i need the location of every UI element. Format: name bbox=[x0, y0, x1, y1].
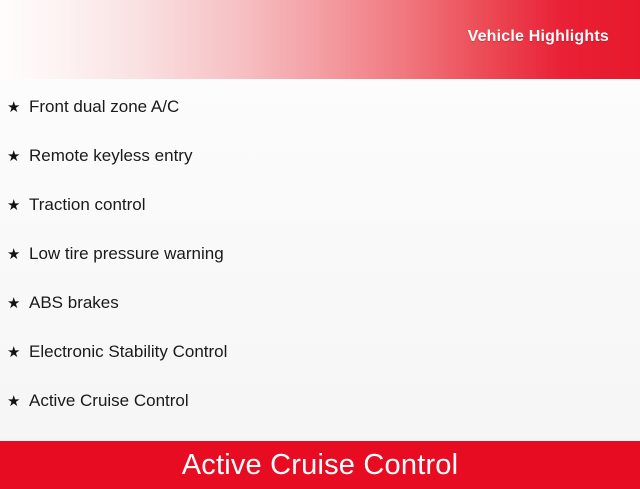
star-icon: ★ bbox=[7, 100, 29, 115]
header-banner: Vehicle Highlights bbox=[0, 0, 640, 79]
footer-banner: Active Cruise Control bbox=[0, 441, 640, 489]
star-icon: ★ bbox=[7, 247, 29, 262]
star-icon: ★ bbox=[7, 198, 29, 213]
list-item: ★ Active Cruise Control bbox=[0, 392, 640, 441]
list-item: ★ ABS brakes bbox=[0, 294, 640, 343]
list-item-label: Active Cruise Control bbox=[29, 392, 189, 409]
list-item-label: Traction control bbox=[29, 196, 146, 213]
star-icon: ★ bbox=[7, 345, 29, 360]
list-item-label: Electronic Stability Control bbox=[29, 343, 227, 360]
list-item: ★ Low tire pressure warning bbox=[0, 245, 640, 294]
list-item-label: Front dual zone A/C bbox=[29, 98, 179, 115]
list-item-label: Low tire pressure warning bbox=[29, 245, 224, 262]
list-item: ★ Front dual zone A/C bbox=[0, 98, 640, 147]
footer-title: Active Cruise Control bbox=[182, 451, 459, 480]
vehicle-highlights-list: ★ Front dual zone A/C ★ Remote keyless e… bbox=[0, 79, 640, 441]
star-icon: ★ bbox=[7, 149, 29, 164]
list-item: ★ Remote keyless entry bbox=[0, 147, 640, 196]
list-item-label: Remote keyless entry bbox=[29, 147, 192, 164]
vehicle-highlights-slide: Vehicle Highlights ★ Front dual zone A/C… bbox=[0, 0, 640, 480]
star-icon: ★ bbox=[7, 394, 29, 409]
list-item-label: ABS brakes bbox=[29, 294, 119, 311]
page-title: Vehicle Highlights bbox=[468, 28, 640, 46]
star-icon: ★ bbox=[7, 296, 29, 311]
list-item: ★ Electronic Stability Control bbox=[0, 343, 640, 392]
list-item: ★ Traction control bbox=[0, 196, 640, 245]
